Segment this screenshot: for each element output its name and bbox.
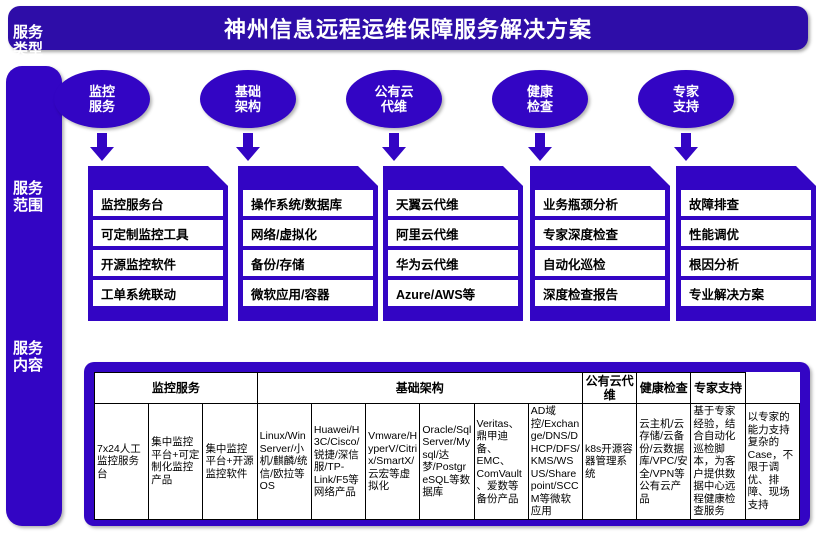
arrow-head-2 bbox=[382, 147, 406, 161]
service-scope-item-label-3-0: 业务瓶颈分析 bbox=[543, 194, 618, 213]
service-scope-card-1: 操作系统/数据库网络/虚拟化备份/存储微软应用/容器 bbox=[238, 166, 378, 321]
arrow-head-3 bbox=[528, 147, 552, 161]
table-cell-2: 集中监控平台+开源监控软件 bbox=[203, 404, 257, 520]
table-cell-4: Huawei/H3C/Cisco/锐捷/深信服/TP-Link/F5等网络产品 bbox=[311, 404, 365, 520]
arrow-head-0 bbox=[90, 147, 114, 161]
service-scope-item-label-2-0: 天翼云代维 bbox=[396, 194, 459, 213]
service-scope-item-3-3[interactable]: 深度检查报告 bbox=[535, 280, 665, 306]
service-scope-item-label-2-2: 华为云代维 bbox=[396, 254, 459, 273]
table-body: 7x24人工监控服务台集中监控平台+可定制化监控产品集中监控平台+开源监控软件L… bbox=[95, 404, 800, 520]
row-label-service-type: 服务 类型 bbox=[0, 24, 56, 58]
service-type-label-0-line1: 监控 bbox=[89, 84, 115, 99]
service-type-ellipse-4[interactable]: 专家支持 bbox=[638, 70, 734, 128]
service-type-label-4-line1: 专家 bbox=[673, 84, 699, 99]
arrow-shaft-0 bbox=[97, 133, 107, 148]
service-type-label-1-line2: 架构 bbox=[235, 99, 261, 114]
service-type-ellipse-3[interactable]: 健康检查 bbox=[492, 70, 588, 128]
service-scope-item-1-0[interactable]: 操作系统/数据库 bbox=[243, 190, 373, 216]
table-group-header-2: 公有云代维 bbox=[582, 373, 636, 404]
service-content-table: 监控服务基础架构公有云代维健康检查专家支持 7x24人工监控服务台集中监控平台+… bbox=[94, 372, 800, 520]
service-scope-item-1-2[interactable]: 备份/存储 bbox=[243, 250, 373, 276]
service-scope-item-label-0-0: 监控服务台 bbox=[101, 194, 164, 213]
table-cell-5: Vmware/HyperV/Citrix/SmartX/云宏等虚拟化 bbox=[366, 404, 420, 520]
service-scope-item-label-3-3: 深度检查报告 bbox=[543, 284, 618, 303]
service-scope-item-0-0[interactable]: 监控服务台 bbox=[93, 190, 223, 216]
service-scope-item-label-1-2: 备份/存储 bbox=[251, 254, 304, 273]
table-group-header-1: 基础架构 bbox=[257, 373, 582, 404]
service-type-label-1: 基础架构 bbox=[235, 84, 261, 114]
service-type-label-2: 公有云代维 bbox=[374, 84, 413, 114]
table-cell-0: 7x24人工监控服务台 bbox=[95, 404, 149, 520]
service-scope-item-label-1-0: 操作系统/数据库 bbox=[251, 194, 342, 213]
service-scope-item-1-1[interactable]: 网络/虚拟化 bbox=[243, 220, 373, 246]
table-cell-10: 云主机/云存储/云备份/云数据库/VPC/安全/VPN等公有云产品 bbox=[637, 404, 691, 520]
service-scope-item-label-2-1: 阿里云代维 bbox=[396, 224, 459, 243]
table-cell-9: k8s开源容器管理系统 bbox=[582, 404, 636, 520]
table-cell-8: AD域控/Exchange/DNS/DHCP/DFS/KMS/WSUS/Shar… bbox=[528, 404, 582, 520]
service-type-label-2-line2: 代维 bbox=[374, 99, 413, 114]
row-label-service-scope: 服务 范围 bbox=[0, 180, 56, 214]
service-type-label-3-line2: 检查 bbox=[527, 99, 553, 114]
row-label-service-scope-line2: 范围 bbox=[0, 197, 56, 214]
table-cell-11: 基于专家经验，结合自动化巡检脚本，为客户提供数据中心远程健康检查服务 bbox=[691, 404, 745, 520]
table-group-header-3: 健康检查 bbox=[637, 373, 691, 404]
service-scope-item-label-2-3: Azure/AWS等 bbox=[396, 284, 475, 303]
service-scope-item-0-1[interactable]: 可定制监控工具 bbox=[93, 220, 223, 246]
service-scope-item-label-4-2: 根因分析 bbox=[689, 254, 739, 273]
service-scope-item-2-3[interactable]: Azure/AWS等 bbox=[388, 280, 518, 306]
service-scope-item-label-0-3: 工单系统联动 bbox=[101, 284, 176, 303]
table-cell-1: 集中监控平台+可定制化监控产品 bbox=[149, 404, 203, 520]
service-scope-card-4-list: 故障排查性能调优根因分析专业解决方案 bbox=[681, 190, 811, 306]
table-cell-12: 以专家的能力支持复杂的Case，不限于调优、排障、现场支持 bbox=[745, 404, 799, 520]
service-scope-item-label-1-1: 网络/虚拟化 bbox=[251, 224, 317, 243]
table-cell-7: Veritas、鼎甲迪备、EMC、ComVault、爱数等备份产品 bbox=[474, 404, 528, 520]
service-scope-item-4-1[interactable]: 性能调优 bbox=[681, 220, 811, 246]
table-cell-6: Oracle/SqlServer/Mysql/达梦/PostgreSQL等数据库 bbox=[420, 404, 474, 520]
service-scope-item-2-0[interactable]: 天翼云代维 bbox=[388, 190, 518, 216]
row-label-service-scope-line1: 服务 bbox=[0, 180, 56, 197]
arrow-shaft-4 bbox=[681, 133, 691, 148]
service-scope-card-2: 天翼云代维阿里云代维华为云代维Azure/AWS等 bbox=[383, 166, 523, 321]
service-content-panel: 监控服务基础架构公有云代维健康检查专家支持 7x24人工监控服务台集中监控平台+… bbox=[84, 362, 810, 526]
row-label-service-content: 服务 内容 bbox=[0, 340, 56, 374]
service-type-label-4-line2: 支持 bbox=[673, 99, 699, 114]
service-type-ellipse-0[interactable]: 监控服务 bbox=[54, 70, 150, 128]
down-arrow-icon-2 bbox=[382, 133, 406, 161]
service-scope-card-1-list: 操作系统/数据库网络/虚拟化备份/存储微软应用/容器 bbox=[243, 190, 373, 306]
service-scope-item-label-4-0: 故障排查 bbox=[689, 194, 739, 213]
arrow-shaft-2 bbox=[389, 133, 399, 148]
table-row: 7x24人工监控服务台集中监控平台+可定制化监控产品集中监控平台+开源监控软件L… bbox=[95, 404, 800, 520]
down-arrow-icon-1 bbox=[236, 133, 260, 161]
diagram-canvas: 神州信息远程运维保障服务解决方案 服务 类型 服务 范围 服务 内容 监控服务基… bbox=[0, 0, 816, 533]
arrow-head-4 bbox=[674, 147, 698, 161]
service-scope-item-label-0-1: 可定制监控工具 bbox=[101, 224, 189, 243]
service-scope-item-label-4-3: 专业解决方案 bbox=[689, 284, 764, 303]
service-scope-item-label-4-1: 性能调优 bbox=[689, 224, 739, 243]
service-scope-item-label-0-2: 开源监控软件 bbox=[101, 254, 176, 273]
service-scope-card-4: 故障排查性能调优根因分析专业解决方案 bbox=[676, 166, 816, 321]
row-label-service-content-line1: 服务 bbox=[0, 340, 56, 357]
service-scope-item-1-3[interactable]: 微软应用/容器 bbox=[243, 280, 373, 306]
diagram-title-bar: 神州信息远程运维保障服务解决方案 bbox=[8, 6, 808, 50]
service-type-label-1-line1: 基础 bbox=[235, 84, 261, 99]
service-scope-item-2-2[interactable]: 华为云代维 bbox=[388, 250, 518, 276]
down-arrow-icon-4 bbox=[674, 133, 698, 161]
row-label-service-type-line2: 类型 bbox=[0, 41, 56, 58]
service-scope-item-4-2[interactable]: 根因分析 bbox=[681, 250, 811, 276]
table-header-row: 监控服务基础架构公有云代维健康检查专家支持 bbox=[95, 373, 800, 404]
row-label-service-type-line1: 服务 bbox=[0, 24, 56, 41]
service-type-label-0: 监控服务 bbox=[89, 84, 115, 114]
service-scope-card-2-list: 天翼云代维阿里云代维华为云代维Azure/AWS等 bbox=[388, 190, 518, 306]
service-scope-item-label-3-1: 专家深度检查 bbox=[543, 224, 618, 243]
service-scope-item-0-3[interactable]: 工单系统联动 bbox=[93, 280, 223, 306]
row-label-service-content-line2: 内容 bbox=[0, 357, 56, 374]
service-scope-item-3-2[interactable]: 自动化巡检 bbox=[535, 250, 665, 276]
down-arrow-icon-0 bbox=[90, 133, 114, 161]
service-scope-item-4-0[interactable]: 故障排查 bbox=[681, 190, 811, 216]
table-cell-3: Linux/Win Server/小机/麒麟/统信/欧拉等OS bbox=[257, 404, 311, 520]
service-type-label-4: 专家支持 bbox=[673, 84, 699, 114]
arrow-head-1 bbox=[236, 147, 260, 161]
service-type-label-3-line1: 健康 bbox=[527, 84, 553, 99]
service-type-label-0-line2: 服务 bbox=[89, 99, 115, 114]
service-type-ellipse-1[interactable]: 基础架构 bbox=[200, 70, 296, 128]
service-scope-item-3-0[interactable]: 业务瓶颈分析 bbox=[535, 190, 665, 216]
service-scope-card-3-list: 业务瓶颈分析专家深度检查自动化巡检深度检查报告 bbox=[535, 190, 665, 306]
service-scope-item-label-1-3: 微软应用/容器 bbox=[251, 284, 329, 303]
service-scope-item-2-1[interactable]: 阿里云代维 bbox=[388, 220, 518, 246]
service-type-label-2-line1: 公有云 bbox=[374, 84, 413, 99]
service-scope-item-4-3[interactable]: 专业解决方案 bbox=[681, 280, 811, 306]
service-scope-card-0-list: 监控服务台可定制监控工具开源监控软件工单系统联动 bbox=[93, 190, 223, 306]
service-scope-card-0: 监控服务台可定制监控工具开源监控软件工单系统联动 bbox=[88, 166, 228, 321]
service-scope-item-3-1[interactable]: 专家深度检查 bbox=[535, 220, 665, 246]
row-label-rail bbox=[6, 66, 62, 526]
table-group-header-0: 监控服务 bbox=[95, 373, 258, 404]
page-title: 神州信息远程运维保障服务解决方案 bbox=[224, 12, 592, 44]
table-head: 监控服务基础架构公有云代维健康检查专家支持 bbox=[95, 373, 800, 404]
service-scope-card-3: 业务瓶颈分析专家深度检查自动化巡检深度检查报告 bbox=[530, 166, 670, 321]
down-arrow-icon-3 bbox=[528, 133, 552, 161]
arrow-shaft-1 bbox=[243, 133, 253, 148]
arrow-shaft-3 bbox=[535, 133, 545, 148]
service-type-label-3: 健康检查 bbox=[527, 84, 553, 114]
service-scope-item-0-2[interactable]: 开源监控软件 bbox=[93, 250, 223, 276]
service-type-ellipse-2[interactable]: 公有云代维 bbox=[346, 70, 442, 128]
table-group-header-4: 专家支持 bbox=[691, 373, 745, 404]
service-scope-item-label-3-2: 自动化巡检 bbox=[543, 254, 606, 273]
